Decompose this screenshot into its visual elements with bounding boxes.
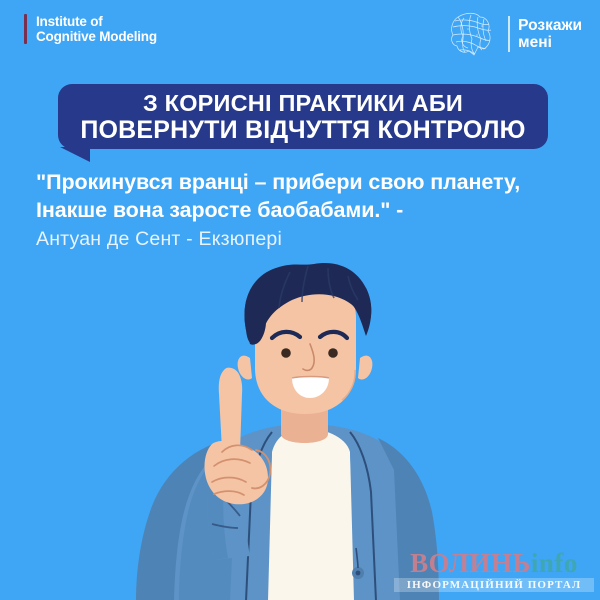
logo-divider: [508, 16, 510, 52]
brand-logo-line1: Розкажи: [518, 17, 582, 34]
rozkazhy-meni-logo-text: Розкажи мені: [518, 17, 582, 51]
watermark-main: ВОЛИНЬinfo: [394, 549, 594, 577]
quote-line2: Інакше вона заросте баобабами." -: [36, 196, 576, 224]
cardigan-button: [352, 548, 364, 579]
rozkazhy-meni-logo: Розкажи мені: [444, 8, 582, 60]
speech-bubble-tail: [60, 147, 90, 162]
tshirt: [266, 428, 356, 600]
institute-logo-line2: Cognitive Modeling: [36, 29, 157, 44]
watermark-main-b: info: [531, 548, 578, 578]
logo-accent-bar: [24, 14, 27, 44]
headline-line2: ПОВЕРНУТИ ВІДЧУТТЯ КОНТРОЛЮ: [76, 117, 530, 144]
institute-logo: Institute of Cognitive Modeling: [24, 14, 157, 44]
institute-logo-line1: Institute of: [36, 14, 157, 29]
headline-line1: З КОРИСНІ ПРАКТИКИ АБИ: [76, 90, 530, 117]
head: [238, 263, 373, 414]
neck: [281, 394, 328, 443]
brand-logo-line2: мені: [518, 34, 582, 51]
pointing-hand: [205, 368, 271, 560]
watermark: ВОЛИНЬinfo ІНФОРМАЦІЙНИЙ ПОРТАЛ: [394, 549, 594, 592]
quote-author: Антуан де Сент - Екзюпері: [36, 224, 576, 254]
quote-line1: "Прокинувся вранці – прибери свою планет…: [36, 168, 576, 196]
cardigan-lapels: [244, 432, 378, 600]
headline-banner: З КОРИСНІ ПРАКТИКИ АБИ ПОВЕРНУТИ ВІДЧУТТ…: [58, 84, 548, 149]
watermark-main-a: ВОЛИНЬ: [410, 548, 531, 578]
brain-wireframe-icon: [444, 9, 500, 59]
social-media-post-card: Institute of Cognitive Modeling: [0, 0, 600, 600]
quote-block: "Прокинувся вранці – прибери свою планет…: [36, 168, 576, 254]
institute-logo-text: Institute of Cognitive Modeling: [36, 14, 157, 44]
watermark-tagline: ІНФОРМАЦІЙНИЙ ПОРТАЛ: [394, 578, 594, 592]
